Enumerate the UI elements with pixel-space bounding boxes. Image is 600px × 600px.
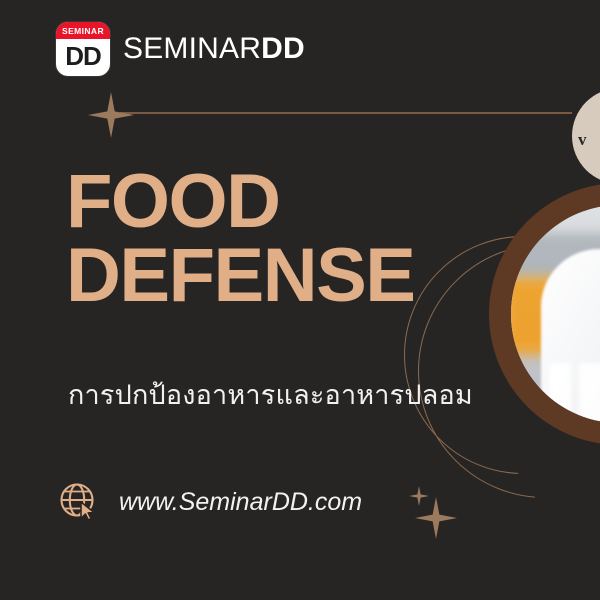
logo-badge-bottom-label: DD [56, 39, 110, 76]
brand-wordmark-bold: DD [261, 32, 305, 65]
website-url-label[interactable]: www.SeminarDD.com [119, 488, 362, 517]
logo-badge-top-label: SEMINAR [56, 22, 110, 39]
brand-wordmark-light: SEMINAR [123, 32, 261, 65]
photo-bottles [549, 363, 600, 423]
page-subtitle: การปกป้องอาหารและอาหารปลอม [68, 373, 473, 416]
poster-canvas: v SEMINAR DD SEMINARDD [0, 0, 600, 600]
beige-circle-decoration: v [572, 88, 600, 184]
page-title-line-1: FOOD [66, 165, 414, 239]
horizontal-rule-decoration [120, 112, 572, 114]
seminardd-logo-icon[interactable]: SEMINAR DD [56, 22, 110, 76]
page-title-line-2: DEFENSE [66, 239, 414, 313]
page-title: FOOD DEFENSE [66, 165, 414, 314]
sparkle-bottom-large-icon [415, 497, 457, 539]
beige-circle-text: v [578, 130, 587, 150]
brand-header[interactable]: SEMINAR DD SEMINARDD [56, 22, 305, 76]
website-row[interactable]: www.SeminarDD.com [57, 480, 362, 524]
globe-cursor-icon [57, 480, 101, 524]
sparkle-bottom-small-icon [409, 486, 429, 506]
brand-wordmark: SEMINARDD [123, 32, 305, 66]
worker-photo [511, 205, 600, 423]
sparkle-top-left-icon [88, 92, 134, 138]
